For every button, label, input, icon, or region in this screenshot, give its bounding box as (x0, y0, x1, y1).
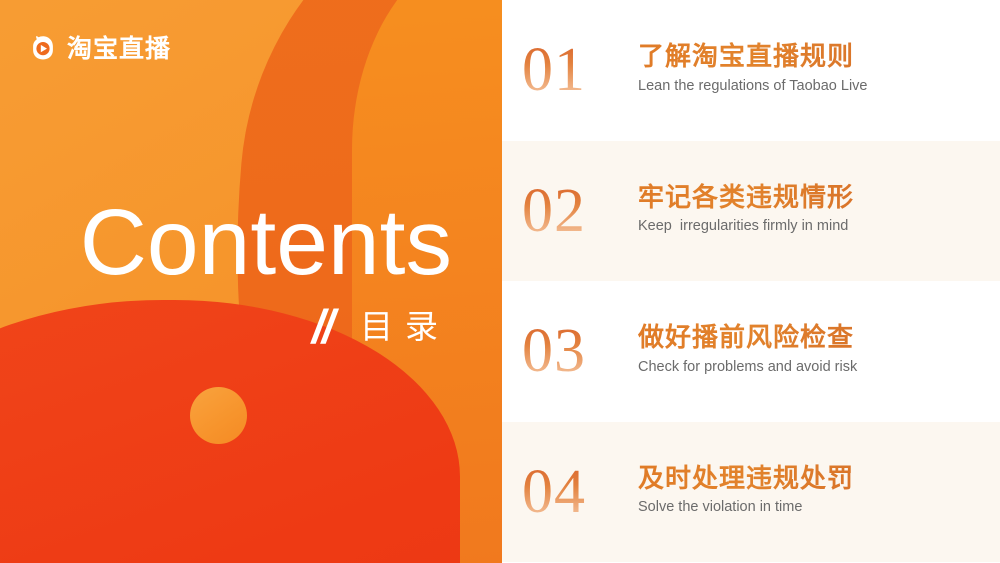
contents-item-02[interactable]: 02 牢记各类违规情形 Keep irregularities firmly i… (502, 141, 1000, 282)
contents-title-block: Contents // 目录 (0, 196, 470, 350)
double-slash-icon: // (312, 303, 332, 350)
item-title-chinese: 牢记各类违规情形 (638, 182, 854, 214)
item-title-english: Lean the regulations of Taobao Live (638, 76, 868, 98)
item-title-chinese: 及时处理违规处罚 (638, 463, 854, 495)
contents-item-03[interactable]: 03 做好播前风险检查 Check for problems and avoid… (502, 281, 1000, 422)
item-title-english: Solve the violation in time (638, 497, 854, 519)
logo-label: 淘宝直播 (67, 37, 171, 62)
item-number: 04 (522, 461, 638, 523)
taobao-live-logo: 淘宝直播 (28, 34, 171, 64)
contents-slide: 淘宝直播 Contents // 目录 01 了解淘宝直播规则 Lean the… (0, 0, 1000, 563)
item-title-chinese: 做好播前风险检查 (638, 322, 857, 354)
left-decorative-panel: 淘宝直播 Contents // 目录 (0, 0, 502, 563)
taobao-live-play-icon (28, 34, 58, 64)
item-text-group: 牢记各类违规情形 Keep irregularities firmly in m… (638, 182, 854, 238)
item-text-group: 了解淘宝直播规则 Lean the regulations of Taobao … (638, 41, 868, 97)
item-title-english: Check for problems and avoid risk (638, 357, 857, 379)
contents-title: Contents (0, 196, 470, 289)
contents-subtitle-row: // 目录 (0, 303, 470, 350)
contents-title-chinese: 目录 (358, 310, 450, 343)
contents-item-04[interactable]: 04 及时处理违规处罚 Solve the violation in time (502, 422, 1000, 563)
item-number: 02 (522, 180, 638, 242)
item-number: 03 (522, 320, 638, 382)
item-text-group: 及时处理违规处罚 Solve the violation in time (638, 463, 854, 519)
contents-list: 01 了解淘宝直播规则 Lean the regulations of Taob… (502, 0, 1000, 563)
item-text-group: 做好播前风险检查 Check for problems and avoid ri… (638, 322, 857, 378)
contents-item-01[interactable]: 01 了解淘宝直播规则 Lean the regulations of Taob… (502, 0, 1000, 141)
item-number: 01 (522, 39, 638, 101)
item-title-chinese: 了解淘宝直播规则 (638, 41, 868, 73)
item-title-english: Keep irregularities firmly in mind (638, 216, 854, 238)
background-circle-small (190, 387, 247, 444)
